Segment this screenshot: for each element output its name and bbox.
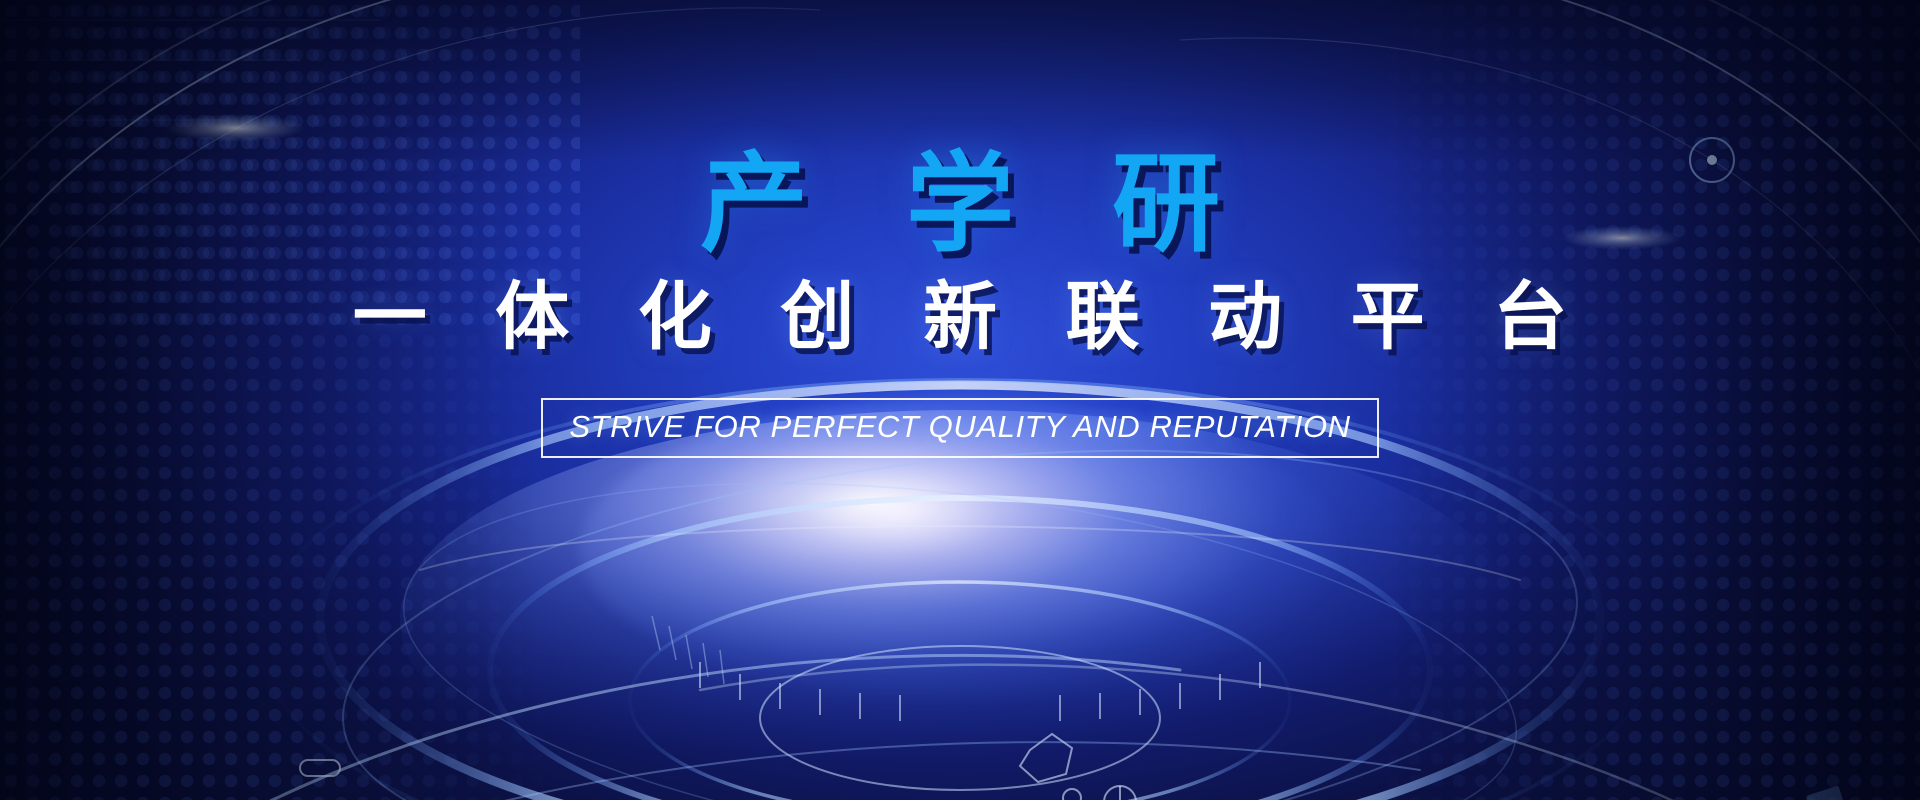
eyebrow-container: STRIVE FOR PERFECT QUALITY AND REPUTATIO…: [541, 398, 1378, 458]
page-subtitle: 一 体 化 创 新 联 动 平 台: [0, 258, 1920, 354]
eyebrow-slogan: STRIVE FOR PERFECT QUALITY AND REPUTATIO…: [541, 398, 1378, 458]
hero-banner: 产 学 研 一 体 化 创 新 联 动 平 台 STRIVE FOR PERFE…: [0, 0, 1920, 800]
hero-copy: 产 学 研 一 体 化 创 新 联 动 平 台 STRIVE FOR PERFE…: [0, 0, 1920, 458]
page-title: 产 学 研: [0, 0, 1920, 258]
